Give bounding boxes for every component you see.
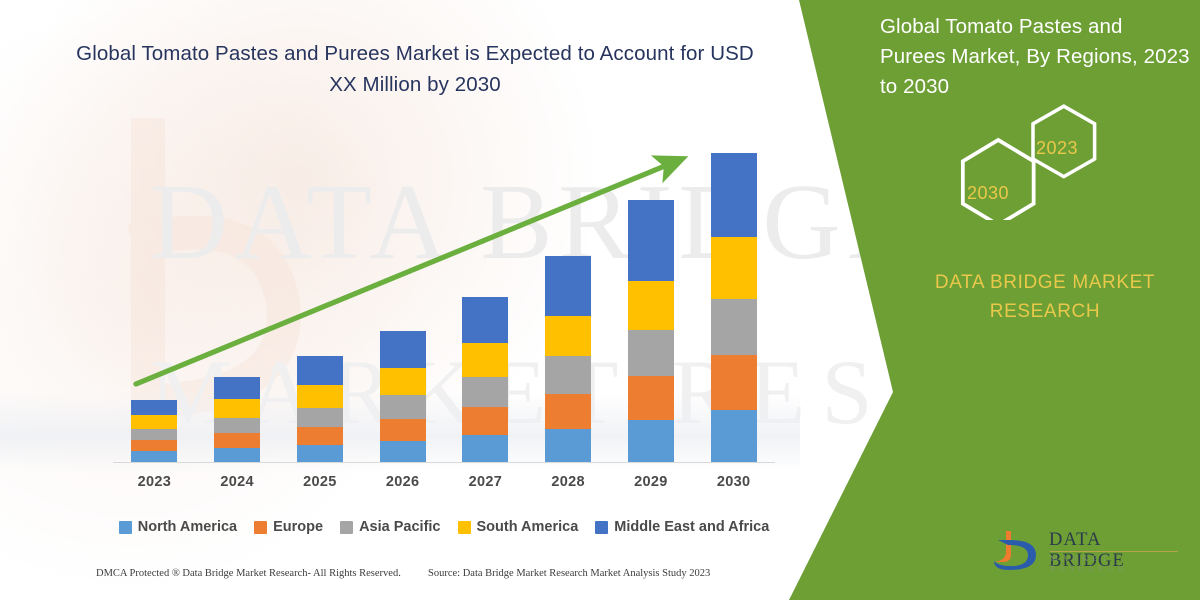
legend-swatch-icon [458, 521, 471, 534]
legend-swatch-icon [119, 521, 132, 534]
legend-item[interactable]: North America [119, 519, 237, 535]
legend-label: North America [138, 519, 237, 535]
brand-line-1: DATA BRIDGE MARKET [935, 272, 1155, 293]
hexagon-outlines-icon [925, 100, 1115, 220]
company-logo: DATA BRIDGE MARKET RESEARCH [992, 528, 1182, 576]
footer-source: Source: Data Bridge Market Research Mark… [428, 568, 710, 579]
hexagon-label-2023: 2023 [1036, 138, 1078, 159]
panel-title: Global Tomato Pastes and Purees Market, … [880, 12, 1190, 102]
legend-label: South America [477, 519, 579, 535]
legend-item[interactable]: Asia Pacific [340, 519, 440, 535]
legend-swatch-icon [254, 521, 267, 534]
logo-wordmark: DATA BRIDGE [1049, 530, 1182, 572]
legend-label: Europe [273, 519, 323, 535]
legend-item[interactable]: Europe [254, 519, 323, 535]
logo-divider [1050, 551, 1178, 552]
hexagon-group: 2030 2023 [925, 100, 1115, 220]
legend-item[interactable]: South America [458, 519, 579, 535]
legend-swatch-icon [340, 521, 353, 534]
brand-line-2: RESEARCH [990, 301, 1100, 322]
chart-plot-area: 20232024202520262027202820292030 [0, 0, 800, 600]
chart-legend: North AmericaEuropeAsia PacificSouth Ame… [113, 519, 775, 535]
legend-swatch-icon [595, 521, 608, 534]
infographic-canvas: DATA BRIDGE MARKET RESEARCH Global Tomat… [0, 0, 1200, 600]
logo-tagline: MARKET RESEARCH [1050, 553, 1182, 573]
data-bridge-b-mark-icon [992, 528, 1044, 574]
hexagon-label-2030: 2030 [967, 183, 1009, 204]
legend-item[interactable]: Middle East and Africa [595, 519, 769, 535]
legend-label: Asia Pacific [359, 519, 440, 535]
footer-copyright: DMCA Protected ® Data Bridge Market Rese… [96, 568, 401, 579]
footer-bar: DMCA Protected ® Data Bridge Market Rese… [0, 568, 800, 592]
growth-arrow-icon [0, 0, 800, 600]
legend-label: Middle East and Africa [614, 519, 769, 535]
brand-name: DATA BRIDGE MARKET RESEARCH [900, 268, 1190, 326]
